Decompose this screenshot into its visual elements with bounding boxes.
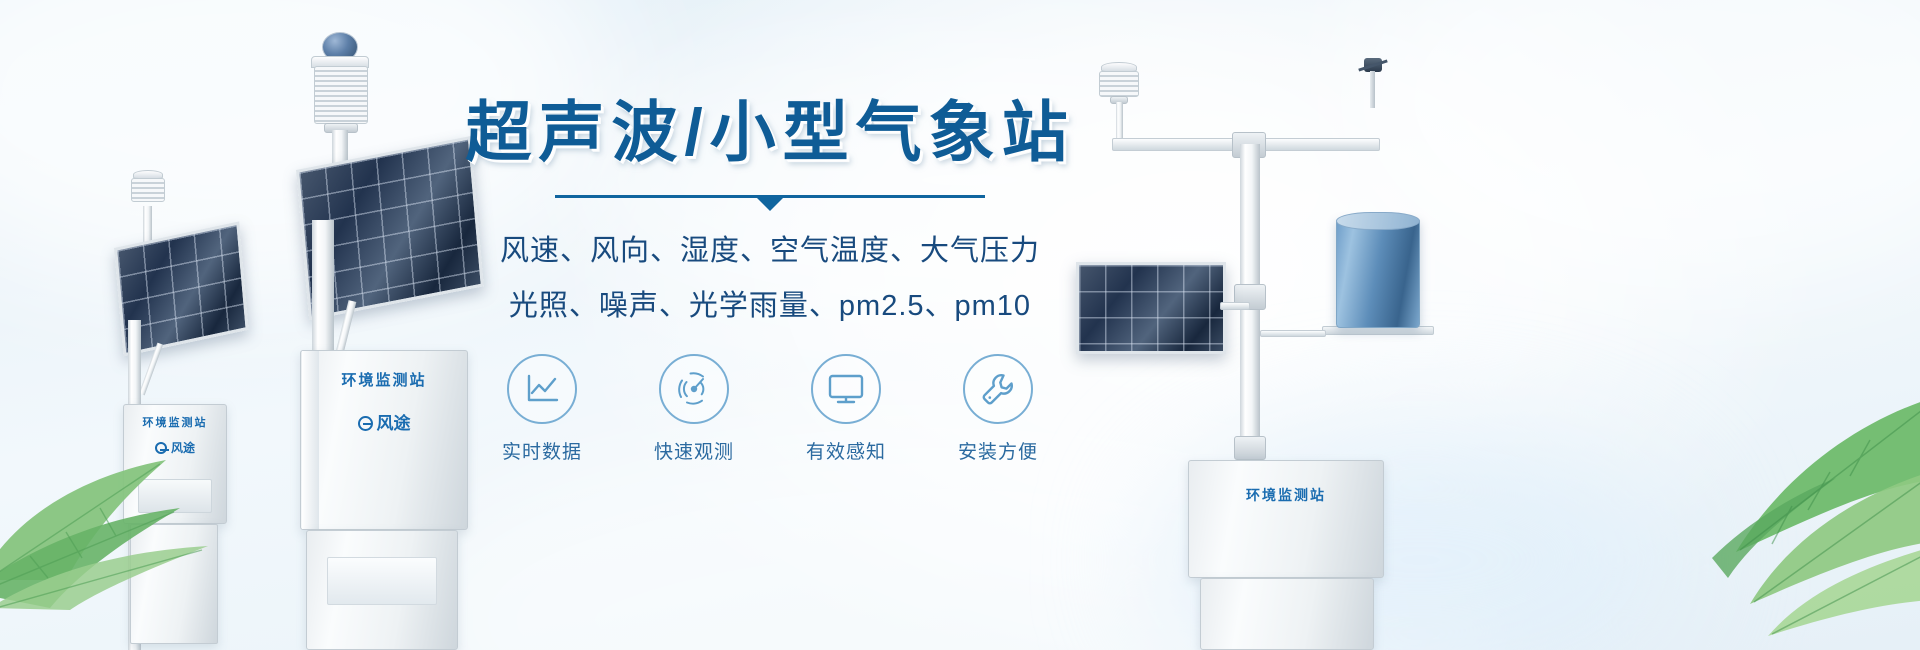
radar-signal-icon <box>675 370 713 408</box>
cabinet-base-mid <box>306 530 458 650</box>
cabinet-base-right <box>1200 578 1374 650</box>
radiation-shield-mid <box>314 66 368 124</box>
tropical-leaf-right <box>1640 360 1920 640</box>
cabinet-base-left <box>130 524 218 644</box>
background-haze <box>1340 0 1920 300</box>
title-divider <box>555 195 985 211</box>
feature-label: 有效感知 <box>791 437 901 464</box>
cabinet-label-right: 环境监测站 <box>1189 485 1383 505</box>
ultrasonic-sensor-left <box>128 170 168 208</box>
weather-station-left: 环境监测站 风途 <box>100 170 280 650</box>
monitor-display-icon <box>827 373 865 405</box>
weather-station-right: 环境监测站 <box>1060 40 1420 650</box>
cabinet-label-left: 环境监测站 <box>124 414 226 430</box>
feature-icon-circle <box>963 354 1033 424</box>
feature-label: 安装方便 <box>943 437 1053 464</box>
shelf-bracket-right <box>1260 330 1326 337</box>
line-chart-icon <box>524 373 560 405</box>
rain-gauge-right <box>1336 218 1420 328</box>
cabinet-edge-mid <box>302 351 319 529</box>
feature-icon-circle <box>507 354 577 424</box>
subtitle-line-2: 光照、噪声、光学雨量、pm2.5、pm10 <box>440 282 1100 324</box>
feature-list: 实时数据 快 <box>440 354 1100 464</box>
feature-icon-circle <box>811 354 881 424</box>
product-banner: 环境监测站 风途 环境监测站 风途 <box>0 0 1920 650</box>
cabinet-right: 环境监测站 <box>1188 460 1384 578</box>
feature-realtime-data[interactable]: 实时数据 <box>487 354 597 464</box>
feature-label: 实时数据 <box>487 437 597 464</box>
feature-easy-installation[interactable]: 安装方便 <box>943 354 1053 464</box>
feature-fast-observation[interactable]: 快速观测 <box>639 354 749 464</box>
cabinet-vent-left <box>138 479 212 513</box>
wrench-tool-icon <box>979 370 1017 408</box>
banner-title: 超声波/小型气象站 <box>440 96 1100 169</box>
brand-mark-icon <box>358 416 373 431</box>
rain-gauge-lid-right <box>1336 212 1420 230</box>
pole-collar-low-right <box>1234 436 1266 460</box>
feature-icon-circle <box>659 354 729 424</box>
subtitle-line-1: 风速、风向、湿度、空气温度、大气压力 <box>440 227 1100 269</box>
wind-vane-right <box>1360 58 1386 108</box>
brand-logo-left: 风途 <box>124 439 226 456</box>
cabinet-left: 环境监测站 风途 <box>123 404 227 524</box>
brand-mark-icon <box>155 442 167 454</box>
feature-label: 快速观测 <box>639 437 749 464</box>
divider-arrow-icon <box>757 198 783 211</box>
cabinet-door-mid <box>327 557 437 605</box>
feature-effective-sensing[interactable]: 有效感知 <box>791 354 901 464</box>
banner-content: 超声波/小型气象站 风速、风向、湿度、空气温度、大气压力 光照、噪声、光学雨量、… <box>440 96 1100 464</box>
panel-bracket-right <box>1220 302 1250 310</box>
